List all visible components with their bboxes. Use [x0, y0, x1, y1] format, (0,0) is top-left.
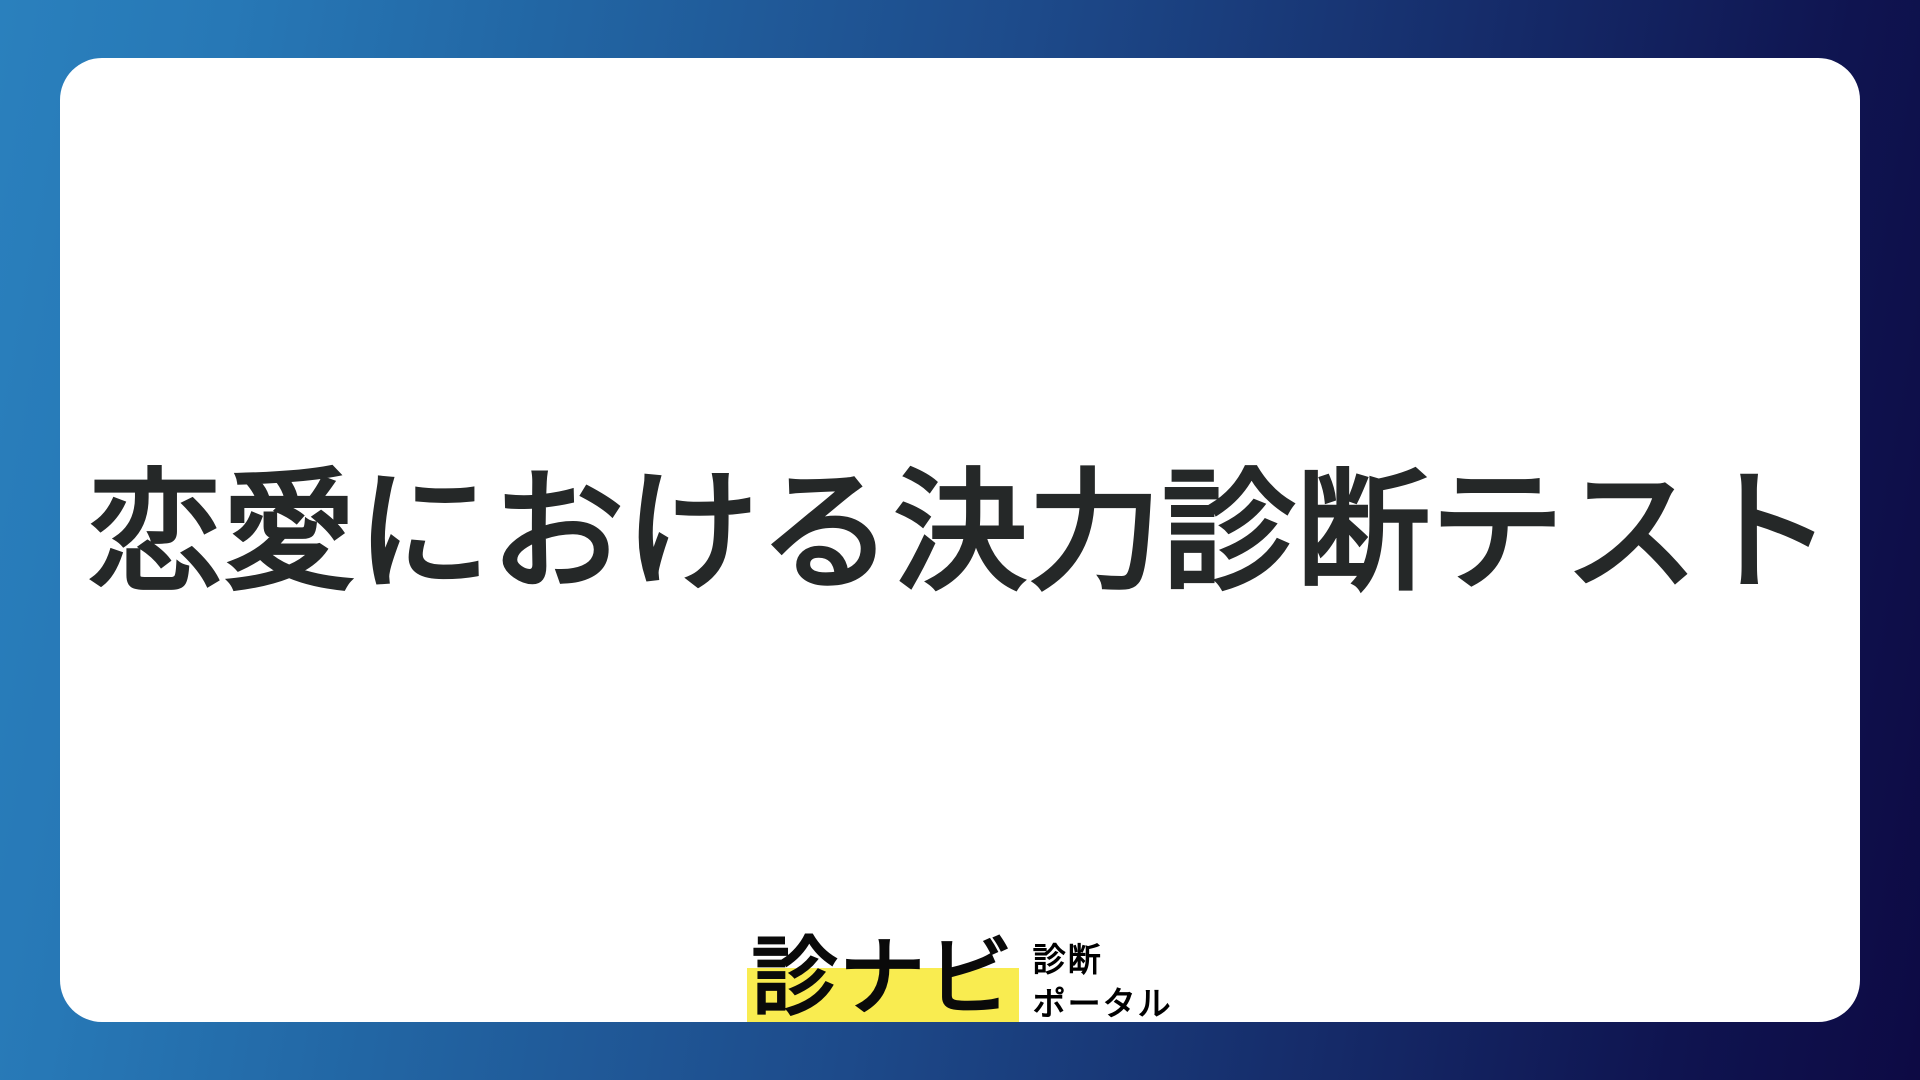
- title-container: 恋愛における決力診断テスト: [60, 456, 1860, 612]
- logo-subtitle-line-1: 診断: [1033, 940, 1173, 980]
- logo-wordmark: 診ナビ: [747, 930, 1018, 1026]
- logo-subtitle: 診断 ポータル: [1033, 930, 1173, 1025]
- brand-logo: 診ナビ 診断 ポータル: [747, 930, 1172, 1026]
- logo-subtitle-line-2: ポータル: [1033, 984, 1173, 1024]
- og-image-canvas: 恋愛における決力診断テスト 診ナビ 診断 ポータル: [0, 0, 1920, 1080]
- page-title: 恋愛における決力診断テスト: [88, 456, 1833, 612]
- logo-container: 診ナビ 診断 ポータル: [60, 930, 1860, 1026]
- logo-wordmark-text: 診ナビ: [751, 930, 1014, 1026]
- content-card: 恋愛における決力診断テスト 診ナビ 診断 ポータル: [60, 58, 1860, 1022]
